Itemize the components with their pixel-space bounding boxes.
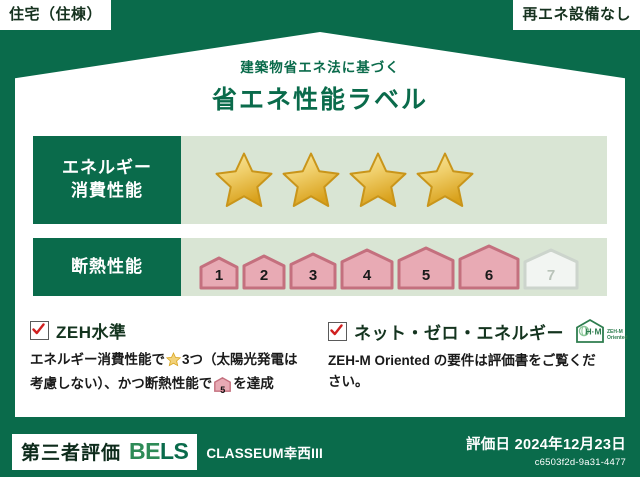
- note-net-zero-energy: ネット・ゼロ・エネルギー H·M ZEH-M Oriented ZEH-M Or…: [328, 318, 596, 393]
- note-zeh-text-3: を達成: [233, 376, 274, 391]
- insulation-grade-5: 5: [397, 246, 455, 290]
- insulation-grade-3: 3: [289, 252, 337, 290]
- star-icon: [347, 150, 409, 210]
- page-title: 省エネ性能ラベル: [0, 80, 640, 116]
- insulation-grade-number: 7: [523, 267, 579, 284]
- metric-label-energy-line2: 消費性能: [71, 180, 143, 203]
- metric-value-energy: [181, 136, 607, 224]
- check-icon: [328, 322, 347, 341]
- insulation-grade-icon-number: 5: [214, 384, 231, 398]
- note-zeh-standard: ZEH水準 エネルギー消費性能で 3つ（太陽光発電は考慮しない）、かつ断熱性能で…: [30, 318, 298, 399]
- metric-label-energy: エネルギー 消費性能: [33, 136, 181, 224]
- note-zeh-standard-header: ZEH水準: [30, 318, 298, 343]
- svg-text:H·M: H·M: [585, 327, 601, 337]
- energy-performance-label: 住宅（住棟） 再エネ設備なし 建築物省エネ法に基づく 省エネ性能ラベル エネルギ…: [0, 0, 640, 477]
- project-name: CLASSEUM幸西III: [206, 442, 323, 462]
- note-zeh-text-1: エネルギー消費性能で: [30, 352, 165, 367]
- insulation-grade-number: 6: [458, 267, 520, 284]
- insulation-grade-number: 3: [289, 267, 337, 284]
- bels-badge-en-part1: BE: [129, 438, 160, 464]
- metric-row-insulation: 断熱性能 1234567: [33, 238, 607, 296]
- insulation-grade-icon: 5: [214, 377, 231, 399]
- note-net-zero-energy-header: ネット・ゼロ・エネルギー H·M ZEH-M Oriented: [328, 318, 596, 344]
- note-zeh-standard-title: ZEH水準: [56, 318, 127, 343]
- label-title-block: 建築物省エネ法に基づく 省エネ性能ラベル: [0, 56, 640, 116]
- note-zeh-standard-body: エネルギー消費性能で 3つ（太陽光発電は考慮しない）、かつ断熱性能で 5を達成: [30, 350, 298, 399]
- insulation-grade-number: 4: [340, 267, 394, 284]
- metric-value-insulation: 1234567: [181, 238, 607, 296]
- evaluation-id: c6503f2d-9a31-4477: [466, 457, 626, 468]
- metric-row-energy: エネルギー 消費性能: [33, 136, 607, 224]
- badge-renewable-energy: 再エネ設備なし: [513, 0, 640, 30]
- insulation-grade-4: 4: [340, 248, 394, 290]
- title-subtitle: 建築物省エネ法に基づく: [0, 56, 640, 76]
- star-icon: [280, 150, 342, 210]
- note-net-zero-energy-body: ZEH-M Oriented の要件は評価書をご覧ください。: [328, 351, 596, 393]
- insulation-grade-number: 2: [242, 267, 286, 284]
- insulation-grade-2: 2: [242, 254, 286, 290]
- star-icon: [166, 355, 181, 370]
- metric-label-insulation-line1: 断熱性能: [71, 256, 143, 279]
- zeh-m-caption-line2: Oriented: [607, 335, 628, 341]
- metric-label-energy-line1: エネルギー: [62, 157, 152, 180]
- metric-label-insulation: 断熱性能: [33, 238, 181, 296]
- star-icon: [213, 150, 275, 210]
- footer-right-group: 評価日 2024年12月23日 c6503f2d-9a31-4477: [466, 433, 626, 468]
- insulation-grade-1: 1: [199, 256, 239, 290]
- star-icon: [414, 150, 476, 210]
- footer-left-group: 第三者評価 BELS CLASSEUM幸西III: [12, 434, 323, 470]
- bels-badge-en: BELS: [129, 438, 188, 465]
- zeh-m-logo-caption: ZEH-M Oriented: [607, 330, 628, 344]
- bels-badge-ja: 第三者評価: [21, 438, 121, 465]
- check-icon: [30, 321, 49, 340]
- insulation-grade-7: 7: [523, 248, 579, 290]
- insulation-grade-number: 5: [397, 267, 455, 284]
- insulation-grade-6: 6: [458, 244, 520, 290]
- bels-badge: 第三者評価 BELS: [12, 434, 197, 470]
- zeh-m-logo: H·M ZEH-M Oriented: [575, 318, 628, 344]
- label-footer: 第三者評価 BELS CLASSEUM幸西III 評価日 2024年12月23日…: [0, 425, 640, 477]
- bels-badge-en-part2: LS: [160, 438, 188, 464]
- insulation-grade-scale: 1234567: [193, 244, 579, 290]
- evaluation-date: 評価日 2024年12月23日: [466, 433, 626, 454]
- insulation-grade-number: 1: [199, 267, 239, 284]
- star-rating: [193, 150, 476, 210]
- badge-building-type: 住宅（住棟）: [0, 0, 111, 30]
- note-net-zero-energy-title: ネット・ゼロ・エネルギー: [354, 319, 564, 344]
